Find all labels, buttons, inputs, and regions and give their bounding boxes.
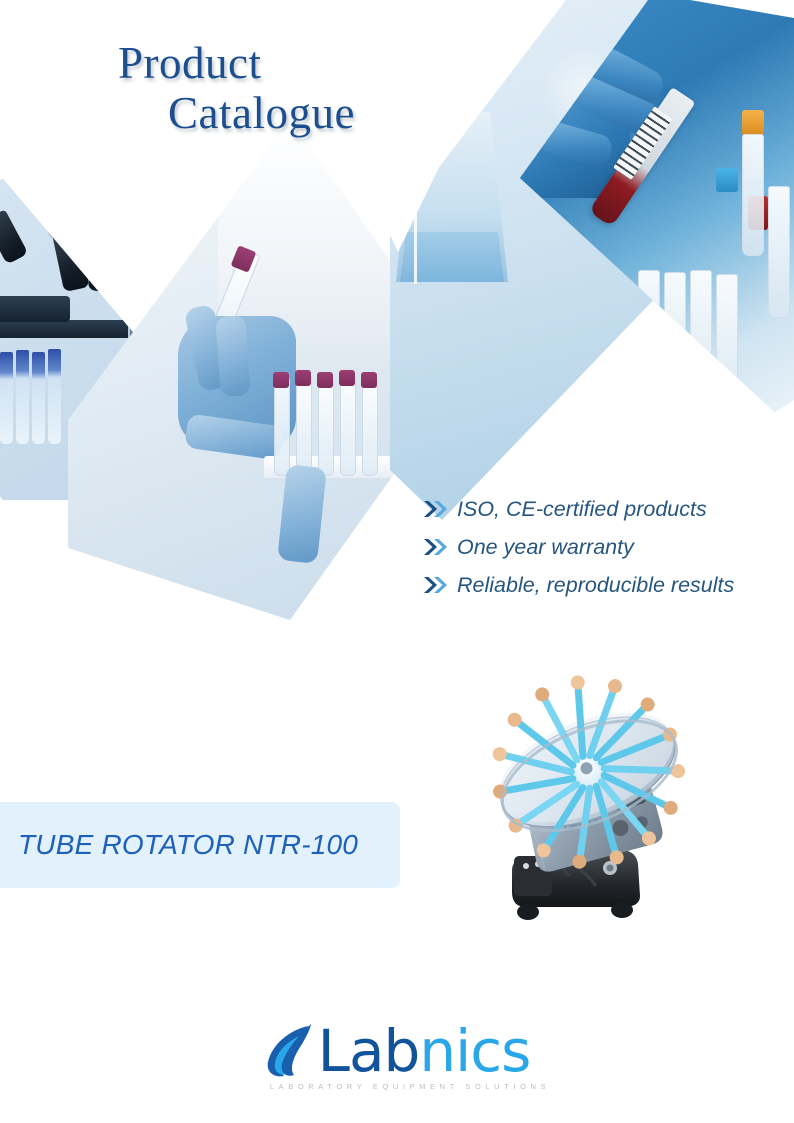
feature-label: Reliable, reproducible results: [457, 573, 734, 598]
swoosh-icon: [264, 1022, 316, 1080]
feature-item: ISO, CE-certified products: [424, 490, 734, 528]
logo-row: Labnics: [264, 1022, 531, 1080]
feature-item: One year warranty: [424, 528, 734, 566]
double-chevron-icon: [424, 500, 448, 518]
tube-rotator-product-photo: Labnics: [470, 660, 705, 935]
feature-label: One year warranty: [457, 535, 634, 560]
logo-tagline: LABORATORY EQUIPMENT SOLUTIONS: [270, 1082, 550, 1091]
brand-logo: Labnics LABORATORY EQUIPMENT SOLUTIONS: [0, 1022, 794, 1114]
page-title-line-2: Catalogue: [0, 88, 420, 138]
product-title: TUBE ROTATOR NTR-100: [0, 827, 368, 863]
double-chevron-icon: [424, 538, 448, 556]
feature-label: ISO, CE-certified products: [457, 497, 707, 522]
page-title: Product Catalogue: [0, 38, 420, 139]
logo-wordmark: Labnics: [318, 1022, 531, 1080]
page-title-line-1: Product: [0, 38, 420, 88]
feature-list: ISO, CE-certified products One year warr…: [424, 490, 734, 604]
logo-word-secondary: nics: [419, 1017, 530, 1085]
double-chevron-icon: [424, 576, 448, 594]
logo-word-primary: Lab: [318, 1017, 420, 1085]
product-title-banner: TUBE ROTATOR NTR-100: [0, 802, 400, 888]
feature-item: Reliable, reproducible results: [424, 566, 734, 604]
